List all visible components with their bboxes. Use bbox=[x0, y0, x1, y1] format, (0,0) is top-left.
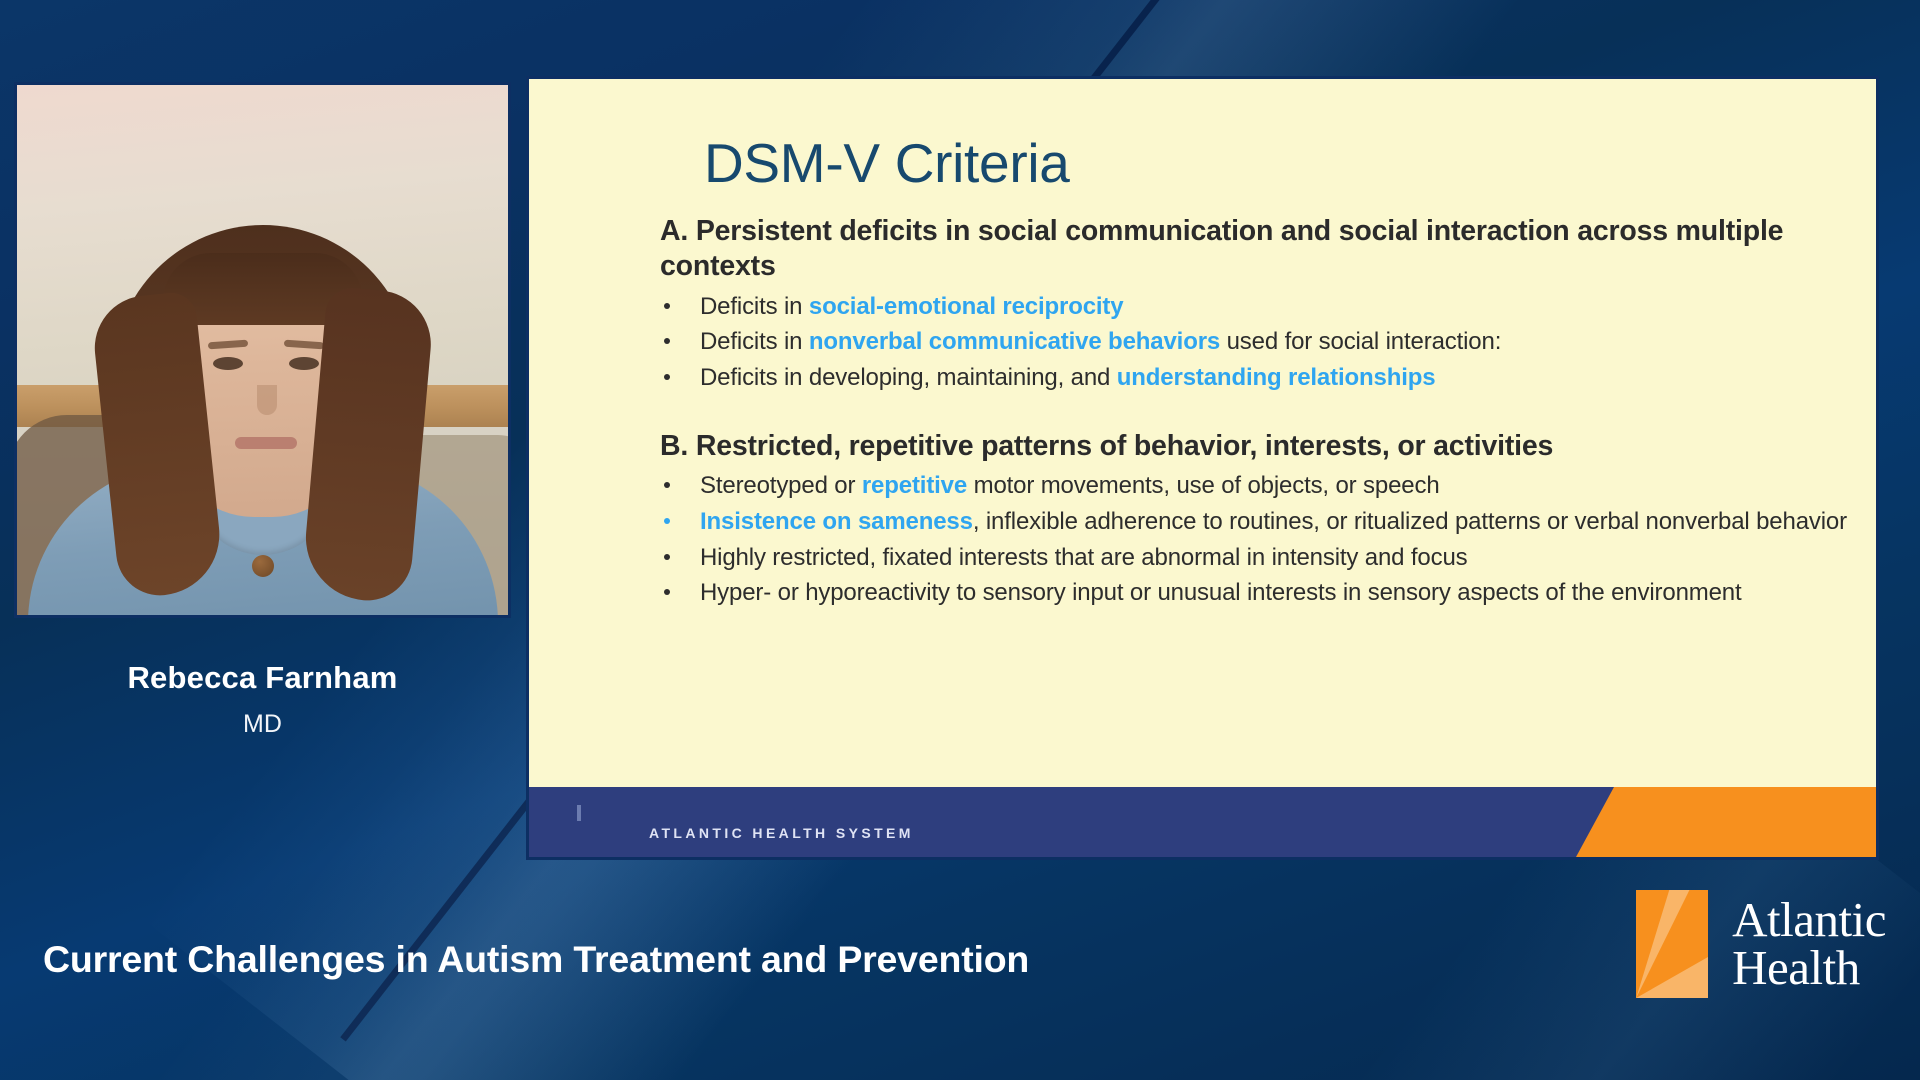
logo-text-line2: Health bbox=[1732, 944, 1886, 993]
bullet-dot-icon bbox=[664, 554, 670, 560]
presenter-eye-left bbox=[213, 357, 243, 370]
criteria-section-heading: A. Persistent deficits in social communi… bbox=[660, 214, 1852, 285]
bullet-highlight-text: repetitive bbox=[862, 472, 967, 499]
criteria-bullet-list: Stereotyped or repetitive motor movement… bbox=[660, 471, 1852, 609]
presentation-title: Current Challenges in Autism Treatment a… bbox=[43, 938, 1029, 981]
presenter-mouth bbox=[235, 437, 297, 449]
logo-text-line1: Atlantic bbox=[1732, 896, 1886, 945]
bullet-dot-icon bbox=[664, 374, 670, 380]
bullet-text: Stereotyped or bbox=[700, 472, 862, 499]
slide-panel[interactable]: DSM-V Criteria A. Persistent deficits in… bbox=[526, 76, 1879, 860]
criteria-bullet-list: Deficits in social-emotional reciprocity… bbox=[660, 292, 1852, 394]
presenter-necklace bbox=[252, 555, 274, 577]
atlantic-health-logo-mark-icon bbox=[1636, 890, 1708, 998]
section-spacer bbox=[660, 399, 1852, 429]
slide-footer-brand-text: ATLANTIC HEALTH SYSTEM bbox=[649, 825, 914, 841]
bullet-text: motor movements, use of objects, or spee… bbox=[967, 472, 1439, 499]
presentation-viewer: Rebecca Farnham MD DSM-V Criteria A. Per… bbox=[0, 0, 1920, 1080]
atlantic-health-logo-text: Atlantic Health bbox=[1732, 896, 1886, 993]
bullet-highlight-text: social-emotional reciprocity bbox=[809, 293, 1124, 320]
bullet-dot-icon bbox=[664, 482, 670, 488]
criteria-bullet-item: Stereotyped or repetitive motor movement… bbox=[660, 471, 1852, 502]
presenter-video-tile[interactable] bbox=[14, 82, 511, 618]
criteria-bullet-item: Highly restricted, fixated interests tha… bbox=[660, 543, 1852, 574]
bullet-text: , inflexible adherence to routines, or r… bbox=[973, 508, 1847, 535]
slide-footer-tick-mark bbox=[577, 805, 581, 821]
criteria-bullet-item: Deficits in developing, maintaining, and… bbox=[660, 363, 1852, 394]
atlantic-health-logo: Atlantic Health bbox=[1636, 890, 1886, 998]
presenter-info: Rebecca Farnham MD bbox=[14, 660, 511, 739]
presenter-nose bbox=[257, 385, 277, 415]
bullet-text: used for social interaction: bbox=[1220, 328, 1501, 355]
bullet-text: Hyper- or hyporeactivity to sensory inpu… bbox=[700, 579, 1742, 606]
criteria-bullet-item: Hyper- or hyporeactivity to sensory inpu… bbox=[660, 578, 1852, 609]
bullet-text: Deficits in developing, maintaining, and bbox=[700, 364, 1117, 391]
criteria-bullet-item: Deficits in nonverbal communicative beha… bbox=[660, 327, 1852, 358]
bullet-highlight-text: Insistence on sameness bbox=[700, 508, 973, 535]
criteria-section-heading: B. Restricted, repetitive patterns of be… bbox=[660, 429, 1852, 464]
presenter-credential: MD bbox=[14, 710, 511, 739]
bullet-dot-icon bbox=[664, 518, 670, 524]
presenter-eye-right bbox=[289, 357, 319, 370]
bullet-dot-icon bbox=[664, 303, 670, 309]
slide-body: A. Persistent deficits in social communi… bbox=[660, 214, 1852, 614]
slide-footer-orange-accent bbox=[1576, 787, 1876, 857]
bullet-dot-icon bbox=[664, 589, 670, 595]
bullet-text: Deficits in bbox=[700, 293, 809, 320]
criteria-bullet-item: Insistence on sameness, inflexible adher… bbox=[660, 507, 1852, 538]
presenter-name: Rebecca Farnham bbox=[14, 660, 511, 696]
bullet-dot-icon bbox=[664, 338, 670, 344]
bullet-text: Highly restricted, fixated interests tha… bbox=[700, 544, 1468, 571]
bullet-highlight-text: understanding relationships bbox=[1117, 364, 1436, 391]
criteria-bullet-item: Deficits in social-emotional reciprocity bbox=[660, 292, 1852, 323]
slide-title: DSM-V Criteria bbox=[704, 131, 1070, 195]
bullet-highlight-text: nonverbal communicative behaviors bbox=[809, 328, 1220, 355]
slide-footer-bar: ATLANTIC HEALTH SYSTEM bbox=[529, 787, 1876, 857]
bullet-text: Deficits in bbox=[700, 328, 809, 355]
